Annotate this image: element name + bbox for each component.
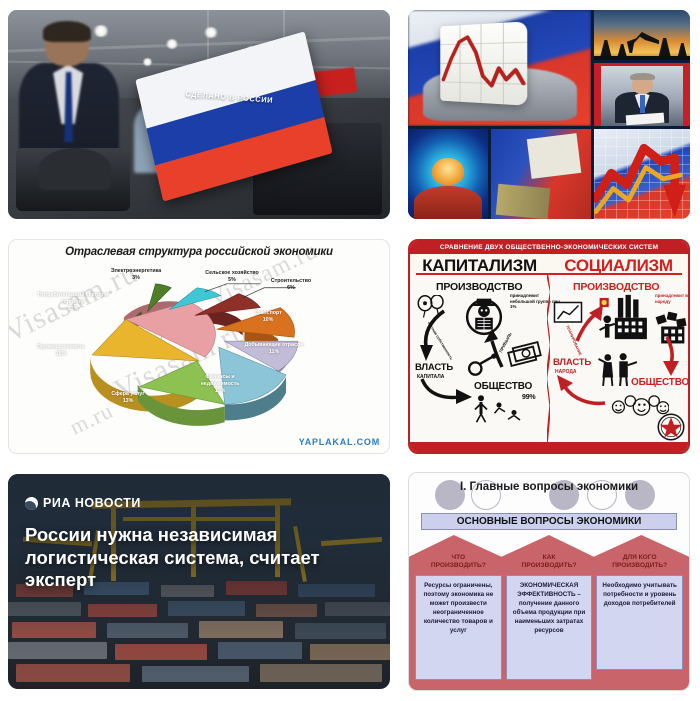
pie-label-finance: Финансы и недвижимость 13% [187,374,253,395]
comparison-banner-text: СРАВНЕНИЕ ДВУХ ОБЩЕСТВЕННО-ЭКОНОМИЧЕСКИХ… [440,244,658,251]
card-ria-news[interactable]: РИА НОВОСТИ России нужна независимая лог… [0,464,400,701]
pie-label-energy: Электроэнергетика 3% [105,268,167,282]
pie-chart-plot: Потребительский сектор и торговля 21% Пр… [9,266,389,444]
collage-tile-gauge-chart [408,10,591,126]
question-how-line2: ПРОИЗВОДИТЬ? [522,562,577,570]
falling-red-arrow-icon [594,129,690,219]
question-for-whom-line1: ДЛЯ КОГО [623,554,657,562]
system-headings: КАПИТАЛИЗМ СОЦИАЛИЗМ [410,254,688,277]
banknotes [496,184,550,219]
pane-capitalism: ПРОИЗВОДСТВО принадлежит небольшой групп… [410,277,549,442]
pie-chart-title: Отраслевая структура российской экономик… [9,246,389,258]
machine-cylinder [39,148,112,190]
collage-bottom-row [408,129,690,219]
collage-right-column [594,10,690,126]
label-power-socialism: ВЛАСТЬ [553,357,591,368]
falling-line-chart-icon [441,21,528,105]
pie-label-consumer: Потребительский сектор и торговля 21% [33,292,113,313]
question-how: КАК ПРОИЗВОДИТЬ? [506,549,593,575]
label-power-capitalism: ВЛАСТЬ [415,362,453,373]
collage-tile-down-arrow-chart [594,129,690,219]
label-society-socialism: ОБЩЕСТВО [631,377,689,388]
collage-tile-oil-derricks [594,10,690,60]
comparison-banner: СРАВНЕНИЕ ДВУХ ОБЩЕСТВЕННО-ЭКОНОМИЧЕСКИХ… [410,241,688,254]
card-pie-chart[interactable]: Visasam.ru Visasam.ru Visasam.ru m.ru От… [0,231,400,464]
pie-label-construction: Строительство 6% [259,278,323,292]
hair [43,21,91,42]
questions-columns: ЧТО ПРОИЗВОДИТЬ? Ресурсы ограничены, поэ… [409,549,689,686]
label-production-capitalism: ПРОИЗВОДСТВО [436,281,522,293]
collage-tile-hands-money [491,129,591,219]
arrow-down-red-icon [657,335,683,377]
portrait-background [601,66,683,125]
card-economics-slide[interactable]: I. Главные вопросы экономики ОСНОВНЫЕ ВО… [400,464,700,701]
question-how-line1: КАК [543,554,556,562]
red-star-emblem-icon [656,412,686,442]
pie-label-agriculture: Сельское хозяйство 5% [199,270,265,284]
card-made-in-russia[interactable]: СДЕЛАНО В РОССИИ [0,0,400,231]
collage-tile-president [594,63,690,126]
slide-subtitle: ОСНОВНЫЕ ВОПРОСЫ ЭКОНОМИКИ [421,513,677,530]
collage-grid: СДЕЛАНО В РОССИИ [0,0,700,701]
note-production-socialism: принадлежит всему народу [655,293,690,304]
golden-loaf [432,158,464,185]
arrow-down-left-icon [414,307,454,363]
column-how-to-produce: КАК ПРОИЗВОДИТЬ? ЭКОНОМИЧЕСКАЯ ЭФФЕКТИВН… [506,549,593,686]
answer-for-whom: Необходимо учитывать потребности и урове… [596,575,683,670]
card-economy-collage[interactable] [400,0,700,231]
ria-news-card: РИА НОВОСТИ России нужна независимая лог… [8,474,390,689]
tie [640,95,645,113]
ceiling-lamp [203,27,219,38]
pane-socialism: ПРОИЗВОДСТВО принадлежит всему народу [549,277,688,442]
question-for-whom: ДЛЯ КОГО ПРОИЗВОДИТЬ? [596,549,683,575]
ceiling-lamp [165,39,179,49]
society-people-icon [472,393,526,423]
bottom-red-bar [410,442,688,452]
news-headline[interactable]: России нужна независимая логистическая с… [25,524,370,592]
ground-line [594,56,690,60]
capitalism-socialism-infographic: СРАВНЕНИЕ ДВУХ ОБЩЕСТВЕННО-ЭКОНОМИЧЕСКИХ… [408,239,690,454]
pie-label-services: Сфера услуг 13% [99,391,157,405]
question-for-whom-line2: ПРОИЗВОДИТЬ? [612,562,667,570]
collage-tile-bread-torch [408,129,488,219]
arrow-up-right-red-icon [571,303,605,343]
economics-questions-slide: I. Главные вопросы экономики ОСНОВНЫЕ ВО… [408,472,690,691]
card-capitalism-socialism[interactable]: СРАВНЕНИЕ ДВУХ ОБЩЕСТВЕННО-ЭКОНОМИЧЕСКИХ… [400,231,700,464]
question-what: ЧТО ПРОИЗВОДИТЬ? [415,549,502,575]
economy-collage [408,10,690,219]
arrow-up-left-red-icon [555,373,609,407]
question-what-line1: ЧТО [452,554,466,562]
money-profit-icon [506,339,546,369]
hair [630,73,655,81]
pie-label-transport: Транспорт 10% [243,310,293,324]
question-what-line2: ПРОИЗВОДИТЬ? [431,562,486,570]
source-watermark: YAPLAKAL.COM [299,437,380,447]
red-base [414,186,481,219]
slide-title: I. Главные вопросы экономики [409,481,689,493]
made-in-russia-photo: СДЕЛАНО В РОССИИ [8,10,390,219]
arrow-right-curve-icon [418,375,474,405]
document-paper [625,112,663,124]
ria-logo[interactable]: РИА НОВОСТИ [25,496,141,510]
pie-label-mining: Добывающие отрасли 11% [237,342,311,356]
arrow-up-icon [484,329,512,369]
heading-socialism: СОЦИАЛИЗМ [549,254,688,277]
document-sheet [527,133,581,179]
chart-paper [441,21,528,105]
heading-underline [416,273,682,275]
pie-chart-image: Visasam.ru Visasam.ru Visasam.ru m.ru От… [8,239,390,454]
answer-what: Ресурсы ограничены, поэтому экономика не… [415,575,502,680]
ceiling-lamp [142,58,153,66]
ria-brand-text: РИА НОВОСТИ [43,496,141,510]
ria-swirl-icon [25,497,38,510]
label-production-socialism: ПРОИЗВОДСТВО [573,281,659,293]
column-for-whom-to-produce: ДЛЯ КОГО ПРОИЗВОДИТЬ? Необходимо учитыва… [596,549,683,686]
label-society-capitalism: ОБЩЕСТВО [474,381,532,392]
pie-label-industry: Промышленность 18% [25,344,97,358]
column-what-to-produce: ЧТО ПРОИЗВОДИТЬ? Ресурсы ограничены, поэ… [415,549,502,686]
answer-how: ЭКОНОМИЧЕСКАЯ ЭФФЕКТИВНОСТЬ – получение … [506,575,593,680]
